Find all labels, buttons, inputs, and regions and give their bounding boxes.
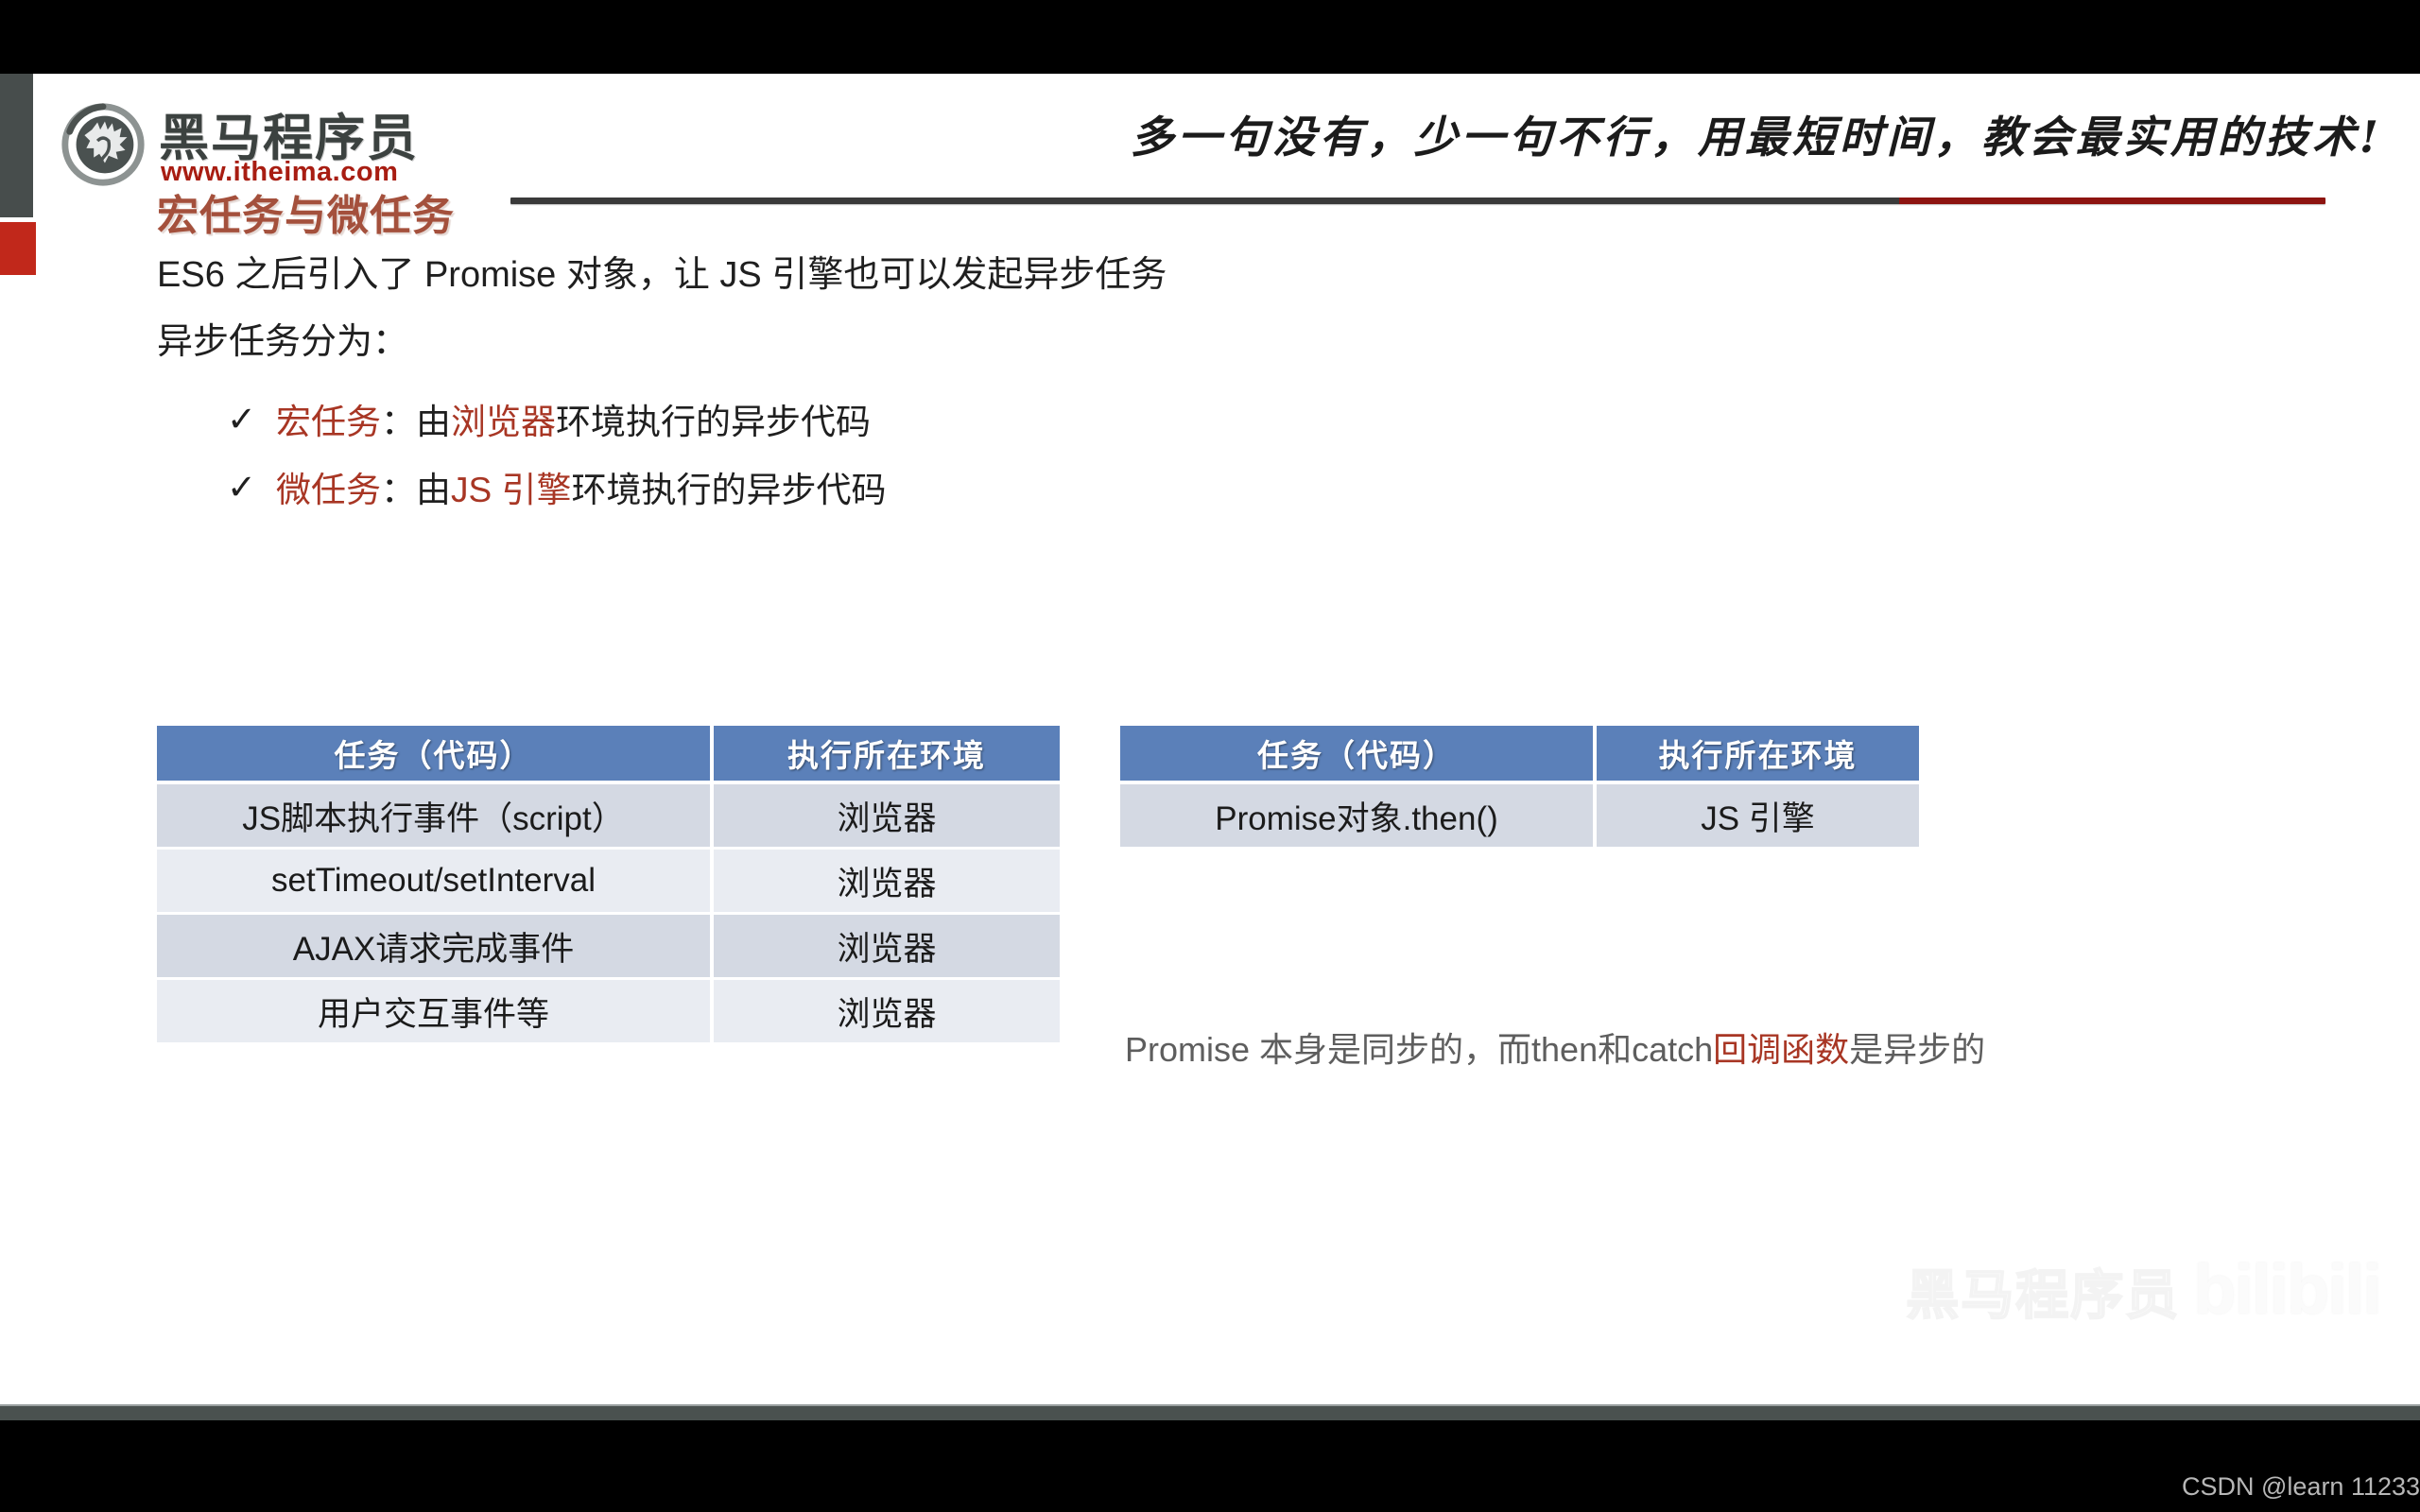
bullet-colon: ：由 [381,393,451,444]
watermark: 黑马程序员 bilibili [1906,1249,2380,1330]
table-row: AJAX请求完成事件 浏览器 [157,915,1060,980]
note-highlight: 回调函数 [1713,1030,1849,1069]
cell-env: 浏览器 [710,784,1060,850]
watermark-brand: 黑马程序员 [1906,1253,2180,1330]
cell-env: JS 引擎 [1593,784,1919,850]
bullet-highlight: 浏览器 [451,393,556,444]
column-header-env: 执行所在环境 [710,726,1060,784]
header-tagline: 多一句没有，少一句不行，用最短时间，教会最实用的技术! [889,94,2382,180]
macro-task-table: 任务（代码） 执行所在环境 JS脚本执行事件（script） 浏览器 setTi… [157,726,1060,1045]
bullet-list: ✓ 宏任务 ：由 浏览器 环境执行的异步代码 ✓ 微任务 ：由 JS 引擎 环境… [227,391,886,514]
checkmark-icon: ✓ [227,467,276,507]
cell-env: 浏览器 [710,850,1060,915]
csdn-credit: CSDN @learn 11233466 [2182,1472,2420,1502]
left-edge-red-bar [0,222,36,275]
promise-note: Promise 本身是同步的，而then和catch回调函数是异步的 [1125,1022,1985,1072]
left-edge-gray-bar [0,74,33,217]
bullet-key: 微任务 [276,461,381,512]
paragraph-subhead: 异步任务分为： [157,312,408,364]
column-header-env: 执行所在环境 [1593,726,1919,784]
footer-gray-strip [0,1404,2420,1420]
column-header-task: 任务（代码） [1120,726,1593,784]
bullet-colon: ：由 [381,461,451,512]
note-suffix: 是异步的 [1849,1030,1985,1069]
table-row: 用户交互事件等 浏览器 [157,980,1060,1045]
cell-task: setTimeout/setInterval [157,850,710,915]
table-header-row: 任务（代码） 执行所在环境 [1120,726,1919,784]
micro-task-table: 任务（代码） 执行所在环境 Promise对象.then() JS 引擎 [1120,726,1919,850]
bullet-tail: 环境执行的异步代码 [571,461,886,512]
cell-task: AJAX请求完成事件 [157,915,710,980]
page-title: 宏任务与微任务 [157,181,455,242]
table-row: JS脚本执行事件（script） 浏览器 [157,784,1060,850]
horse-logo-icon [57,96,149,189]
table-row: Promise对象.then() JS 引擎 [1120,784,1919,850]
presentation-slide: 黑马程序员 www.itheima.com 多一句没有，少一句不行，用最短时间，… [0,74,2420,1420]
table-header-row: 任务（代码） 执行所在环境 [157,726,1060,784]
bullet-tail: 环境执行的异步代码 [556,393,871,444]
table-row: setTimeout/setInterval 浏览器 [157,850,1060,915]
note-prefix: Promise 本身是同步的，而then和catch [1125,1030,1713,1069]
bullet-key: 宏任务 [276,393,381,444]
list-item: ✓ 微任务 ：由 JS 引擎 环境执行的异步代码 [227,459,886,514]
list-item: ✓ 宏任务 ：由 浏览器 环境执行的异步代码 [227,391,886,446]
watermark-bilibili: bilibili [2193,1249,2380,1330]
checkmark-icon: ✓ [227,399,276,439]
paragraph-intro: ES6 之后引入了 Promise 对象，让 JS 引擎也可以发起异步任务 [157,245,1167,297]
cell-task: 用户交互事件等 [157,980,710,1045]
header-rule [510,198,2325,204]
bullet-highlight: JS 引擎 [451,461,571,512]
column-header-task: 任务（代码） [157,726,710,784]
cell-task: Promise对象.then() [1120,784,1593,850]
slide-screenshot: 黑马程序员 www.itheima.com 多一句没有，少一句不行，用最短时间，… [0,0,2420,1512]
cell-env: 浏览器 [710,915,1060,980]
cell-task: JS脚本执行事件（script） [157,784,710,850]
cell-env: 浏览器 [710,980,1060,1045]
